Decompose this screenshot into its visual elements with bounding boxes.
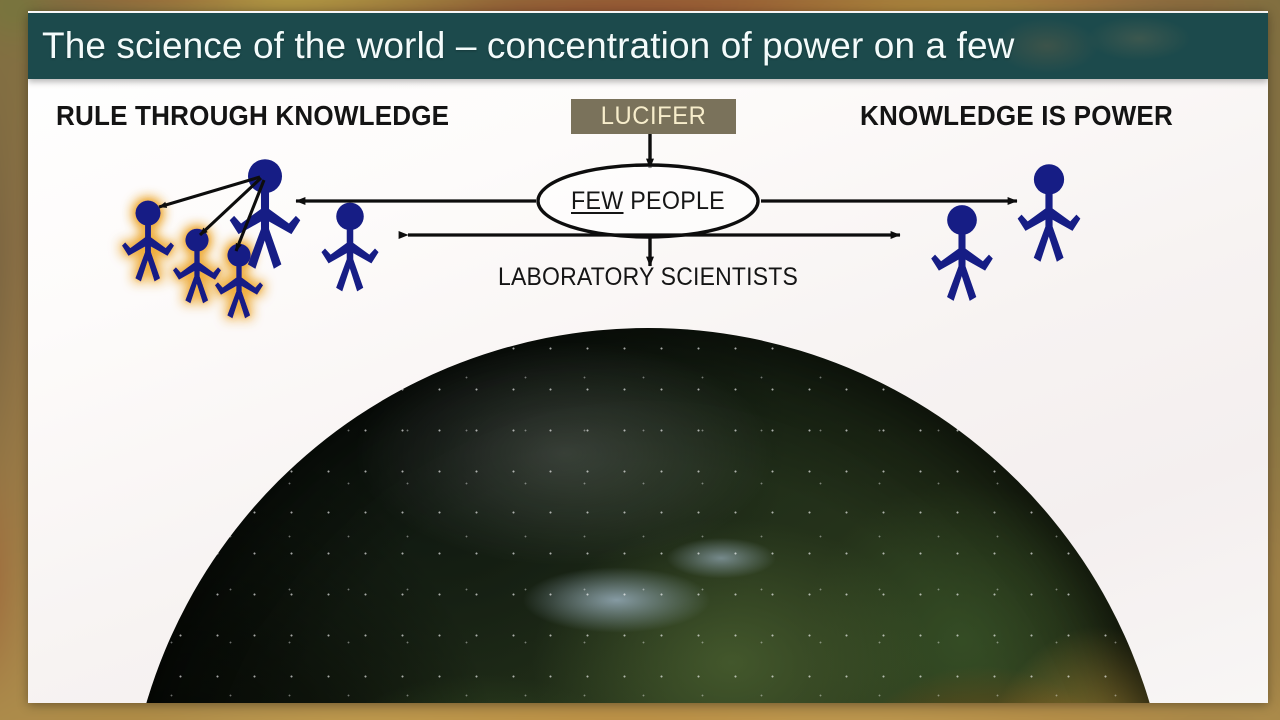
right-figures-group [931,164,1080,301]
right-figure-far [1018,164,1081,261]
follower-figure-1 [122,201,174,282]
slide-canvas: The science of the world – concentration… [28,11,1268,703]
globe-specular-highlight [125,328,1171,703]
slide-stage: The science of the world – concentration… [0,0,1280,720]
right-figure-near [931,205,993,301]
few-people-ellipse [538,165,758,237]
leader-command-arrows [159,177,264,251]
highlighted-follower-figures [122,201,263,319]
follower-figure-2 [173,229,221,304]
page-title: The science of the world – concentration… [42,25,1014,67]
earth-globe-image [28,328,1268,703]
earth-sphere [125,328,1171,703]
left-standalone-figure [321,203,378,292]
